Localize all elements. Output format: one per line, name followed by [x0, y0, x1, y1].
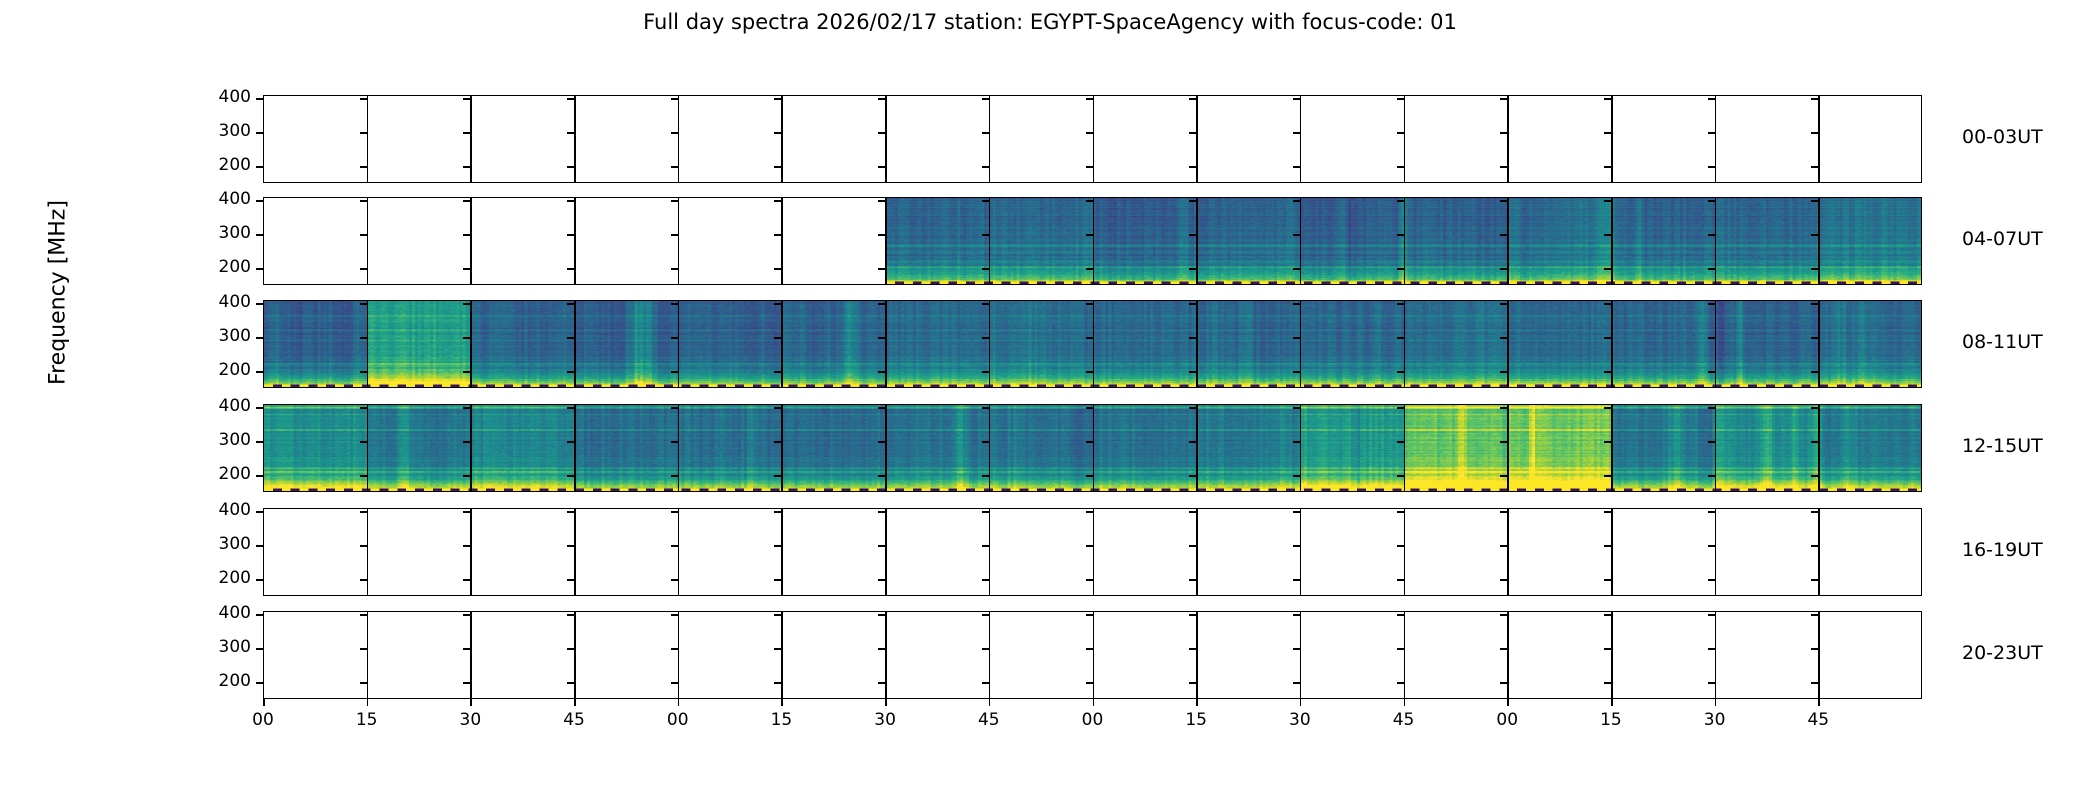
y-tick-mark-inner	[878, 579, 885, 581]
y-tick-mark-inner	[982, 614, 989, 616]
x-tick-mark	[470, 699, 472, 706]
y-tick-mark-inner	[567, 441, 574, 443]
y-tick-mark-inner	[1189, 337, 1196, 339]
y-tick-mark-inner	[360, 371, 367, 373]
y-tick-mark-inner	[1500, 132, 1507, 134]
x-tick-mark	[263, 699, 265, 706]
y-tick-mark-inner	[1293, 407, 1300, 409]
y-tick-mark-inner	[1500, 648, 1507, 650]
y-tick-mark-inner	[1086, 441, 1093, 443]
x-tick-label: 30	[855, 710, 915, 730]
column-divider	[1093, 611, 1095, 699]
x-tick-label: 00	[648, 710, 708, 730]
y-tick-mark-inner	[878, 371, 885, 373]
y-tick-mark-inner	[567, 98, 574, 100]
y-tick-mark-inner	[1189, 268, 1196, 270]
y-tick-mark-inner	[360, 407, 367, 409]
y-tick-mark	[256, 614, 263, 616]
y-tick-mark	[256, 200, 263, 202]
column-divider	[1196, 95, 1198, 183]
x-tick-mark	[1715, 699, 1717, 706]
y-tick-mark-inner	[1811, 98, 1818, 100]
y-tick-mark-inner	[360, 441, 367, 443]
y-tick-mark-inner	[1708, 132, 1715, 134]
column-divider	[1715, 300, 1717, 388]
y-tick-mark-inner	[360, 200, 367, 202]
column-divider	[1093, 404, 1095, 492]
y-tick-mark-inner	[1293, 441, 1300, 443]
column-divider	[367, 197, 369, 285]
x-tick-mark	[1196, 699, 1198, 706]
y-tick-mark-inner	[360, 166, 367, 168]
y-tick-mark-inner	[1189, 441, 1196, 443]
y-tick-mark-inner	[1500, 614, 1507, 616]
y-tick-mark-inner	[463, 166, 470, 168]
y-tick-mark-inner	[1811, 614, 1818, 616]
column-divider	[1507, 197, 1509, 285]
y-tick-label: 200	[201, 155, 251, 175]
y-tick-mark-inner	[567, 132, 574, 134]
column-divider	[1507, 508, 1509, 596]
y-tick-mark-inner	[1293, 234, 1300, 236]
spectrogram-row: 40030020020-23UT	[0, 611, 2100, 699]
column-divider	[1404, 197, 1406, 285]
y-tick-mark-inner	[878, 132, 885, 134]
column-divider	[1093, 197, 1095, 285]
x-tick-mark	[885, 699, 887, 706]
column-divider	[1818, 197, 1820, 285]
y-tick-mark-inner	[463, 268, 470, 270]
y-tick-mark-inner	[774, 337, 781, 339]
x-tick-label: 30	[440, 710, 500, 730]
y-tick-mark-inner	[1397, 511, 1404, 513]
y-tick-mark-inner	[463, 303, 470, 305]
y-tick-mark-inner	[1293, 682, 1300, 684]
y-tick-mark-inner	[1397, 303, 1404, 305]
y-tick-mark-inner	[1500, 441, 1507, 443]
y-tick-mark-inner	[1086, 371, 1093, 373]
x-tick-label: 00	[1477, 710, 1537, 730]
column-divider	[1507, 611, 1509, 699]
y-tick-mark-inner	[1189, 648, 1196, 650]
y-tick-label: 200	[201, 360, 251, 380]
column-divider	[1507, 95, 1509, 183]
y-tick-mark-inner	[1086, 303, 1093, 305]
y-tick-mark-inner	[1397, 407, 1404, 409]
y-tick-mark-inner	[463, 579, 470, 581]
column-divider	[885, 404, 887, 492]
y-tick-mark-inner	[567, 234, 574, 236]
y-tick-label: 300	[201, 637, 251, 657]
column-divider	[470, 300, 472, 388]
y-tick-mark-inner	[1086, 648, 1093, 650]
y-tick-mark-inner	[1293, 475, 1300, 477]
y-axis-label: Frequency [MHz]	[46, 143, 71, 443]
y-tick-mark-inner	[1811, 441, 1818, 443]
y-tick-mark-inner	[1293, 132, 1300, 134]
y-tick-mark-inner	[1397, 132, 1404, 134]
column-divider	[1196, 300, 1198, 388]
y-tick-label: 200	[201, 671, 251, 691]
y-tick-mark-inner	[360, 268, 367, 270]
y-tick-mark-inner	[671, 234, 678, 236]
column-divider	[1611, 611, 1613, 699]
y-tick-mark	[256, 579, 263, 581]
row-label-00-03ut: 00-03UT	[1962, 126, 2043, 148]
y-tick-mark	[256, 682, 263, 684]
y-tick-mark-inner	[360, 132, 367, 134]
y-tick-mark-inner	[567, 200, 574, 202]
y-tick-mark-inner	[1500, 407, 1507, 409]
y-tick-mark-inner	[1189, 132, 1196, 134]
x-tick-mark	[574, 699, 576, 706]
y-tick-mark-inner	[567, 648, 574, 650]
y-tick-mark-inner	[463, 234, 470, 236]
column-divider	[1196, 611, 1198, 699]
y-tick-mark-inner	[671, 166, 678, 168]
y-tick-mark-inner	[1293, 303, 1300, 305]
y-tick-mark-inner	[671, 200, 678, 202]
x-tick-mark	[1404, 699, 1406, 706]
y-tick-mark-inner	[567, 268, 574, 270]
column-divider	[1715, 508, 1717, 596]
y-tick-mark-inner	[1500, 200, 1507, 202]
y-tick-mark-inner	[1500, 511, 1507, 513]
y-tick-mark-inner	[1604, 545, 1611, 547]
y-tick-mark-inner	[1708, 682, 1715, 684]
column-divider	[781, 611, 783, 699]
y-tick-mark-inner	[1811, 303, 1818, 305]
y-tick-mark-inner	[1500, 579, 1507, 581]
y-tick-mark-inner	[878, 337, 885, 339]
y-tick-mark-inner	[567, 545, 574, 547]
y-tick-mark-inner	[878, 545, 885, 547]
row-label-12-15ut: 12-15UT	[1962, 435, 2043, 457]
y-tick-mark-inner	[1811, 475, 1818, 477]
y-tick-mark-inner	[360, 303, 367, 305]
y-tick-label: 400	[201, 396, 251, 416]
column-divider	[1715, 611, 1717, 699]
y-tick-mark-inner	[1500, 303, 1507, 305]
y-tick-mark-inner	[1086, 200, 1093, 202]
y-tick-mark-inner	[774, 371, 781, 373]
y-tick-mark-inner	[1604, 407, 1611, 409]
y-tick-label: 400	[201, 87, 251, 107]
y-tick-mark-inner	[1708, 337, 1715, 339]
y-tick-mark-inner	[1189, 98, 1196, 100]
x-tick-mark	[1093, 699, 1095, 706]
y-tick-mark-inner	[1293, 337, 1300, 339]
y-tick-label: 400	[201, 500, 251, 520]
x-tick-mark	[1611, 699, 1613, 706]
y-tick-mark-inner	[1811, 132, 1818, 134]
y-tick-mark	[256, 511, 263, 513]
spectrogram-row: 40030020008-11UT	[0, 300, 2100, 388]
y-tick-mark-inner	[1604, 682, 1611, 684]
column-divider	[885, 95, 887, 183]
y-tick-mark-inner	[671, 337, 678, 339]
y-tick-mark-inner	[567, 371, 574, 373]
column-divider	[989, 300, 991, 388]
column-divider	[367, 611, 369, 699]
x-tick-label: 00	[233, 710, 293, 730]
y-tick-mark-inner	[1604, 234, 1611, 236]
y-tick-mark-inner	[360, 614, 367, 616]
y-tick-mark-inner	[1500, 337, 1507, 339]
column-divider	[1404, 95, 1406, 183]
y-tick-mark-inner	[1500, 98, 1507, 100]
y-tick-label: 400	[201, 292, 251, 312]
column-divider	[1611, 300, 1613, 388]
column-divider	[885, 300, 887, 388]
column-divider	[367, 300, 369, 388]
column-divider	[470, 611, 472, 699]
y-tick-mark-inner	[982, 98, 989, 100]
y-tick-mark-inner	[982, 166, 989, 168]
y-tick-mark-inner	[878, 407, 885, 409]
y-tick-mark-inner	[360, 648, 367, 650]
y-tick-label: 200	[201, 257, 251, 277]
x-tick-mark	[367, 699, 369, 706]
column-divider	[989, 508, 991, 596]
column-divider	[1093, 508, 1095, 596]
column-divider	[989, 95, 991, 183]
column-divider	[574, 404, 576, 492]
column-divider	[1196, 197, 1198, 285]
y-tick-mark-inner	[982, 475, 989, 477]
column-divider	[678, 300, 680, 388]
y-tick-mark-inner	[463, 371, 470, 373]
y-tick-mark	[256, 407, 263, 409]
column-divider	[885, 197, 887, 285]
x-tick-mark	[1818, 699, 1820, 706]
column-divider	[1611, 95, 1613, 183]
x-tick-label: 15	[337, 710, 397, 730]
y-tick-mark	[256, 132, 263, 134]
y-tick-mark-inner	[360, 511, 367, 513]
y-tick-mark-inner	[774, 132, 781, 134]
y-tick-mark-inner	[1189, 682, 1196, 684]
y-tick-mark-inner	[1189, 407, 1196, 409]
y-tick-mark-inner	[360, 234, 367, 236]
column-divider	[470, 197, 472, 285]
y-tick-mark-inner	[982, 303, 989, 305]
y-tick-mark-inner	[982, 545, 989, 547]
y-tick-mark-inner	[774, 441, 781, 443]
y-tick-mark-inner	[1397, 200, 1404, 202]
y-tick-mark-inner	[982, 511, 989, 513]
y-tick-mark-inner	[463, 682, 470, 684]
y-tick-mark-inner	[463, 407, 470, 409]
y-tick-mark-inner	[1086, 234, 1093, 236]
y-tick-mark-inner	[1086, 579, 1093, 581]
y-tick-mark-inner	[671, 371, 678, 373]
y-tick-mark-inner	[774, 545, 781, 547]
column-divider	[574, 197, 576, 285]
y-tick-mark-inner	[671, 303, 678, 305]
column-divider	[885, 508, 887, 596]
x-tick-mark	[781, 699, 783, 706]
y-tick-mark-inner	[463, 614, 470, 616]
column-divider	[678, 404, 680, 492]
y-tick-mark-inner	[1189, 200, 1196, 202]
y-tick-mark-inner	[1708, 441, 1715, 443]
y-tick-mark-inner	[567, 407, 574, 409]
y-tick-mark-inner	[567, 511, 574, 513]
y-tick-mark-inner	[774, 98, 781, 100]
y-tick-mark-inner	[360, 682, 367, 684]
column-divider	[1611, 197, 1613, 285]
y-tick-mark-inner	[1604, 648, 1611, 650]
y-tick-mark-inner	[774, 200, 781, 202]
y-tick-mark-inner	[1293, 371, 1300, 373]
y-tick-mark-inner	[1397, 441, 1404, 443]
y-tick-mark-inner	[567, 303, 574, 305]
column-divider	[781, 404, 783, 492]
y-tick-mark-inner	[671, 132, 678, 134]
y-tick-mark	[256, 545, 263, 547]
y-tick-mark-inner	[1086, 166, 1093, 168]
row-label-08-11ut: 08-11UT	[1962, 331, 2043, 353]
column-divider	[367, 508, 369, 596]
y-tick-mark-inner	[1086, 475, 1093, 477]
y-tick-mark-inner	[671, 268, 678, 270]
column-divider	[678, 508, 680, 596]
y-tick-mark-inner	[1293, 614, 1300, 616]
y-tick-mark-inner	[671, 511, 678, 513]
y-tick-mark-inner	[1708, 303, 1715, 305]
y-tick-mark-inner	[1189, 166, 1196, 168]
row-label-16-19ut: 16-19UT	[1962, 539, 2043, 561]
y-tick-mark-inner	[463, 337, 470, 339]
column-divider	[470, 404, 472, 492]
y-tick-mark-inner	[1604, 441, 1611, 443]
column-divider	[1300, 508, 1302, 596]
y-tick-mark-inner	[671, 614, 678, 616]
y-tick-mark-inner	[1604, 475, 1611, 477]
y-tick-mark-inner	[1604, 200, 1611, 202]
y-tick-mark	[256, 234, 263, 236]
y-tick-mark-inner	[1811, 200, 1818, 202]
column-divider	[1507, 404, 1509, 492]
y-tick-mark-inner	[1811, 511, 1818, 513]
y-tick-mark-inner	[360, 545, 367, 547]
y-tick-mark-inner	[1189, 234, 1196, 236]
y-tick-mark-inner	[567, 166, 574, 168]
column-divider	[1715, 95, 1717, 183]
y-tick-mark-inner	[1811, 166, 1818, 168]
y-tick-mark-inner	[774, 682, 781, 684]
column-divider	[367, 404, 369, 492]
y-tick-mark-inner	[774, 268, 781, 270]
y-tick-mark-inner	[463, 441, 470, 443]
y-tick-mark-inner	[1500, 166, 1507, 168]
column-divider	[989, 197, 991, 285]
column-divider	[678, 95, 680, 183]
y-tick-mark-inner	[1397, 268, 1404, 270]
y-tick-mark-inner	[1604, 132, 1611, 134]
column-divider	[781, 508, 783, 596]
y-tick-mark-inner	[774, 303, 781, 305]
y-tick-mark-inner	[1604, 614, 1611, 616]
y-tick-mark-inner	[671, 579, 678, 581]
y-tick-mark-inner	[671, 441, 678, 443]
y-tick-mark-inner	[463, 545, 470, 547]
x-tick-label: 15	[751, 710, 811, 730]
y-tick-mark-inner	[1708, 614, 1715, 616]
y-tick-mark-inner	[1708, 200, 1715, 202]
y-tick-mark-inner	[774, 407, 781, 409]
y-tick-mark-inner	[1397, 579, 1404, 581]
y-tick-mark-inner	[1500, 268, 1507, 270]
x-tick-mark	[678, 699, 680, 706]
column-divider	[781, 197, 783, 285]
y-tick-mark-inner	[1189, 579, 1196, 581]
y-tick-mark-inner	[1189, 475, 1196, 477]
column-divider	[1611, 404, 1613, 492]
y-tick-mark-inner	[982, 579, 989, 581]
y-tick-mark-inner	[982, 648, 989, 650]
y-tick-mark-inner	[1086, 337, 1093, 339]
y-tick-mark-inner	[1086, 268, 1093, 270]
y-tick-label: 200	[201, 568, 251, 588]
y-tick-mark-inner	[878, 303, 885, 305]
y-tick-mark-inner	[774, 614, 781, 616]
y-tick-mark-inner	[1086, 682, 1093, 684]
column-divider	[1818, 611, 1820, 699]
y-tick-mark-inner	[1086, 614, 1093, 616]
y-tick-mark	[256, 475, 263, 477]
y-tick-mark-inner	[878, 234, 885, 236]
y-tick-mark-inner	[774, 648, 781, 650]
y-tick-label: 400	[201, 189, 251, 209]
y-tick-mark-inner	[878, 166, 885, 168]
spectrogram-row: 40030020000-03UT	[0, 95, 2100, 183]
y-tick-mark-inner	[1293, 511, 1300, 513]
y-tick-mark-inner	[1500, 371, 1507, 373]
y-tick-mark-inner	[1189, 511, 1196, 513]
y-tick-mark-inner	[567, 579, 574, 581]
y-tick-label: 400	[201, 603, 251, 623]
y-tick-mark-inner	[1293, 648, 1300, 650]
column-divider	[1715, 197, 1717, 285]
y-tick-mark-inner	[774, 475, 781, 477]
y-tick-mark-inner	[1086, 511, 1093, 513]
y-tick-mark-inner	[878, 475, 885, 477]
spectrogram-row: 40030020016-19UT	[0, 508, 2100, 596]
column-divider	[989, 404, 991, 492]
y-tick-mark-inner	[1708, 268, 1715, 270]
y-tick-mark-inner	[463, 132, 470, 134]
column-divider	[574, 300, 576, 388]
y-tick-mark-inner	[671, 98, 678, 100]
column-divider	[574, 508, 576, 596]
y-tick-mark	[256, 648, 263, 650]
y-tick-mark-inner	[1293, 579, 1300, 581]
y-tick-label: 300	[201, 121, 251, 141]
y-tick-mark-inner	[982, 407, 989, 409]
column-divider	[989, 611, 991, 699]
y-tick-mark-inner	[1811, 579, 1818, 581]
y-tick-mark	[256, 441, 263, 443]
y-tick-mark-inner	[1397, 475, 1404, 477]
column-divider	[1300, 611, 1302, 699]
y-tick-mark-inner	[671, 407, 678, 409]
x-tick-label: 30	[1270, 710, 1330, 730]
y-tick-mark-inner	[1397, 166, 1404, 168]
y-tick-mark-inner	[982, 371, 989, 373]
x-tick-label: 30	[1685, 710, 1745, 730]
